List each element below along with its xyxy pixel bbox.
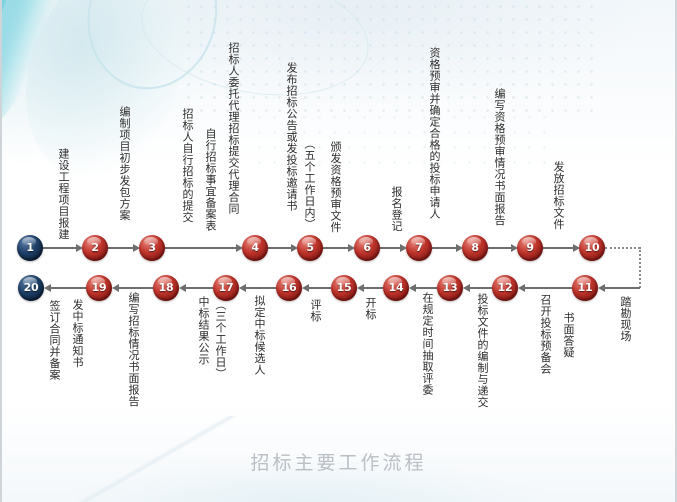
step-label-l24: 发中标通知书: [72, 299, 83, 368]
flow-node-10[interactable]: 10: [579, 235, 605, 261]
flow-node-20[interactable]: 20: [18, 275, 44, 301]
step-label-l17: 在规定时间抽取评委: [422, 292, 433, 396]
flow-node-13[interactable]: 13: [437, 275, 463, 301]
node-gloss-highlight: [497, 277, 511, 286]
step-label-l22: （三个工作日）: [215, 299, 226, 380]
node-gloss-highlight: [411, 237, 425, 246]
slide-canvas: 1234567891011121314151617181920建设工程项目报建编…: [0, 0, 677, 502]
node-gloss-highlight: [87, 237, 101, 246]
flow-node-15[interactable]: 15: [331, 275, 357, 301]
step-label-l23: 编写招标情况书面报告: [128, 292, 139, 407]
step-label-l7: （五个工作日内）: [304, 138, 315, 230]
step-label-l10: 资格预审并确定合格的投标申请人: [429, 47, 440, 220]
node-gloss-highlight: [22, 237, 36, 246]
node-gloss-highlight: [158, 277, 172, 286]
flow-node-2[interactable]: 2: [82, 235, 108, 261]
node-gloss-highlight: [467, 237, 481, 246]
step-label-l15: 书面答疑: [563, 312, 574, 358]
node-gloss-highlight: [218, 277, 232, 286]
step-label-l21: 中标结果公示: [198, 296, 209, 365]
step-label-l18: 开标: [365, 297, 376, 320]
step-label-l9: 报名登记: [391, 186, 402, 232]
step-label-l25: 签订合同并备案: [49, 300, 60, 381]
flow-node-19[interactable]: 19: [86, 275, 112, 301]
flow-node-8[interactable]: 8: [462, 235, 488, 261]
step-label-l8: 颁发资格预审文件: [330, 141, 341, 233]
node-gloss-highlight: [302, 237, 316, 246]
flow-node-14[interactable]: 14: [383, 275, 409, 301]
step-label-l3: 招标人自行招标的提交: [182, 108, 193, 223]
flow-node-5[interactable]: 5: [297, 235, 323, 261]
page-title: 招标主要工作流程: [2, 448, 675, 475]
node-gloss-highlight: [359, 237, 373, 246]
node-gloss-highlight: [577, 277, 591, 286]
step-label-l16: 投标文件的编制与递交: [477, 293, 488, 408]
flow-node-3[interactable]: 3: [139, 235, 165, 261]
node-gloss-highlight: [23, 277, 37, 286]
flow-node-16[interactable]: 16: [276, 275, 302, 301]
node-gloss-highlight: [336, 277, 350, 286]
flow-node-4[interactable]: 4: [242, 235, 268, 261]
step-label-l14: 召开投标预备会: [540, 294, 551, 375]
step-label-l19: 评标: [310, 299, 321, 322]
node-gloss-highlight: [584, 237, 598, 246]
node-gloss-highlight: [388, 277, 402, 286]
flow-node-7[interactable]: 7: [406, 235, 432, 261]
flow-node-17[interactable]: 17: [213, 275, 239, 301]
step-label-l2: 编制项目初步发包方案: [119, 106, 130, 221]
node-gloss-highlight: [247, 237, 261, 246]
step-label-l13: 踏勘现场: [620, 296, 631, 342]
step-label-l11: 编写资格预审情况书面报告: [494, 88, 505, 226]
step-label-l5: 招标人委托代理招标提交代理合同: [228, 42, 239, 215]
flow-node-11[interactable]: 11: [572, 275, 598, 301]
node-gloss-highlight: [442, 277, 456, 286]
node-gloss-highlight: [522, 237, 536, 246]
step-label-l1: 建设工程项目报建: [58, 148, 69, 240]
step-label-l20: 拟定中标候选人: [254, 295, 265, 376]
node-gloss-highlight: [91, 277, 105, 286]
flow-node-12[interactable]: 12: [492, 275, 518, 301]
step-label-l6: 发布招标公告或发投标邀请书: [286, 62, 297, 212]
flow-node-1[interactable]: 1: [17, 235, 43, 261]
flow-node-9[interactable]: 9: [517, 235, 543, 261]
flow-node-18[interactable]: 18: [153, 275, 179, 301]
node-gloss-highlight: [144, 237, 158, 246]
node-gloss-highlight: [281, 277, 295, 286]
step-label-l12: 发放招标文件: [553, 161, 564, 230]
step-label-l4: 自行招标事宜备案表: [205, 128, 216, 232]
flow-node-6[interactable]: 6: [354, 235, 380, 261]
